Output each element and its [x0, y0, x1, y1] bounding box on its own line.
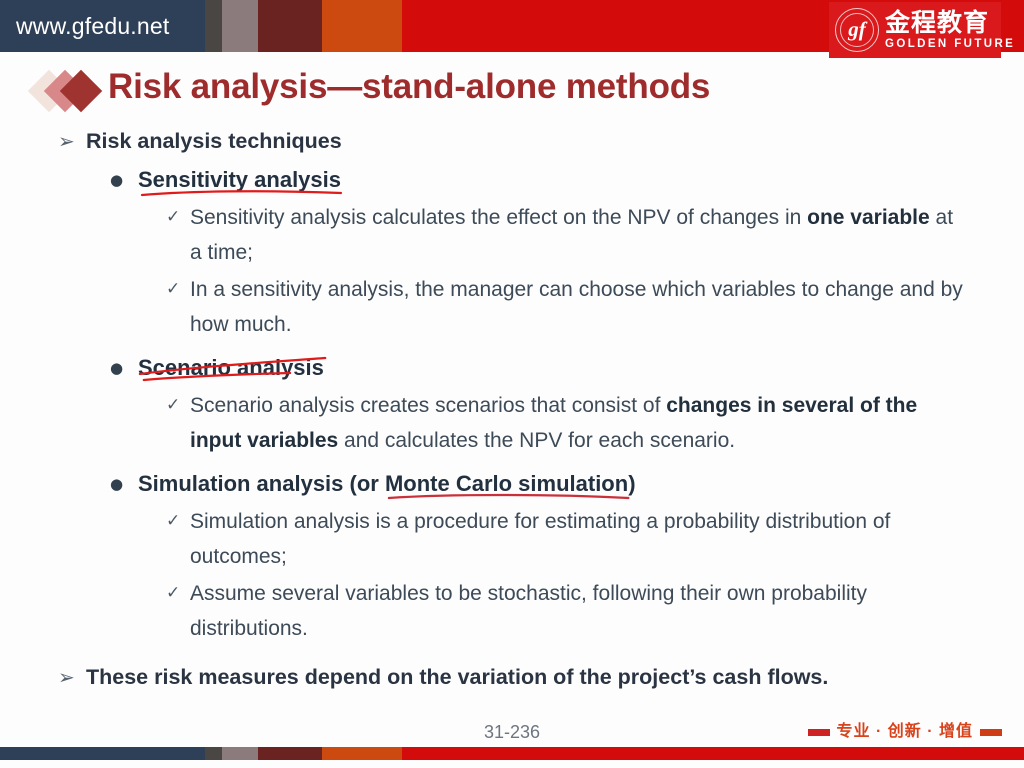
- spacer: [0, 344, 1024, 352]
- tagline-text: 专业 · 创新 · 增值: [837, 722, 973, 742]
- subbullet-text: Scenario analysis creates scenarios that…: [190, 388, 966, 458]
- bullet-text-wrapper: Sensitivity analysis: [138, 164, 341, 196]
- botbar-block-red: [402, 747, 1024, 760]
- botbar-block-maroon: [258, 747, 322, 760]
- site-url[interactable]: www.gfedu.net: [16, 12, 169, 40]
- logo-name-cn: 金程教育: [885, 9, 1015, 37]
- subbullet-simulation-p1: ✓ Simulation analysis is a procedure for…: [0, 504, 1024, 574]
- tagline-dash-right-icon: [980, 729, 1002, 736]
- bullet-sensitivity-analysis: ● Sensitivity analysis: [0, 164, 1024, 196]
- bullet-text: Scenario analysis: [138, 355, 324, 380]
- bullet-text-suffix: ): [628, 471, 635, 496]
- bullet-text-underlined: Monte Carlo simulation: [385, 471, 628, 496]
- bullet-risk-analysis-techniques: ➢ Risk analysis techniques: [0, 126, 1024, 156]
- bullet-text-wrapper: Scenario analysis: [138, 352, 324, 384]
- topbar-block-maroon: [258, 0, 322, 52]
- slide: www.gfedu.net gf 金程教育 GOLDEN FUTURE Risk…: [0, 0, 1024, 768]
- footer-tagline: 专业 · 创新 · 增值: [808, 722, 1002, 742]
- logo-name-en: GOLDEN FUTURE: [885, 37, 1015, 52]
- text-part-1: Sensitivity analysis calculates the effe…: [190, 206, 807, 229]
- subbullet-text: Sensitivity analysis calculates the effe…: [190, 200, 966, 270]
- spacer: [0, 460, 1024, 468]
- tagline-dash-left-icon: [808, 729, 830, 736]
- check-bullet-icon: ✓: [166, 504, 190, 539]
- topbar-block-orange: [322, 0, 402, 52]
- dot-bullet-icon: ●: [110, 164, 138, 196]
- subbullet-simulation-p2: ✓ Assume several variables to be stochas…: [0, 576, 1024, 646]
- spacer: [0, 648, 1024, 662]
- check-bullet-icon: ✓: [166, 200, 190, 235]
- page-title: Risk analysis—stand-alone methods: [108, 62, 710, 112]
- check-bullet-icon: ✓: [166, 576, 190, 611]
- topbar-block-mauve: [222, 0, 258, 52]
- bullet-text-prefix: Simulation analysis (or: [138, 471, 385, 496]
- dot-bullet-icon: ●: [110, 352, 138, 384]
- text-emphasis: one variable: [807, 206, 930, 229]
- botbar-block-dark-gray: [205, 747, 222, 760]
- bullet-text: Sensitivity analysis: [138, 167, 341, 192]
- botbar-block-navy: [0, 747, 205, 760]
- subbullet-scenario-p1: ✓ Scenario analysis creates scenarios th…: [0, 388, 1024, 458]
- brand-logo: gf 金程教育 GOLDEN FUTURE: [829, 2, 1001, 58]
- bullet-text: Risk analysis techniques: [86, 126, 342, 156]
- subbullet-sensitivity-p1: ✓ Sensitivity analysis calculates the ef…: [0, 200, 1024, 270]
- botbar-block-mauve: [222, 747, 258, 760]
- title-row: Risk analysis—stand-alone methods: [0, 62, 1024, 118]
- annotated-term: Sensitivity analysis: [138, 164, 341, 196]
- bullet-scenario-analysis: ● Scenario analysis: [0, 352, 1024, 384]
- subbullet-sensitivity-p2: ✓ In a sensitivity analysis, the manager…: [0, 272, 1024, 342]
- text-part-1: Scenario analysis creates scenarios that…: [190, 394, 666, 417]
- bullet-risk-measures-conclusion: ➢ These risk measures depend on the vari…: [0, 662, 1024, 692]
- topbar-block-dark-gray: [205, 0, 222, 52]
- seal-emblem-icon: gf: [835, 8, 879, 52]
- bullet-text-wrapper: Simulation analysis (or Monte Carlo simu…: [138, 468, 636, 500]
- subbullet-text: Simulation analysis is a procedure for e…: [190, 504, 966, 574]
- check-bullet-icon: ✓: [166, 388, 190, 423]
- arrow-bullet-icon: ➢: [58, 126, 86, 156]
- botbar-block-orange: [322, 747, 402, 760]
- annotated-term: Monte Carlo simulation: [385, 468, 628, 500]
- seal-monogram: gf: [836, 9, 878, 51]
- logo-text-group: 金程教育 GOLDEN FUTURE: [885, 9, 1015, 52]
- dot-bullet-icon: ●: [110, 468, 138, 500]
- annotated-term: Scenario analysis: [138, 352, 324, 384]
- subbullet-text: Assume several variables to be stochasti…: [190, 576, 966, 646]
- check-bullet-icon: ✓: [166, 272, 190, 307]
- bottom-color-bar: [0, 747, 1024, 760]
- slide-body: ➢ Risk analysis techniques ● Sensitivity…: [0, 126, 1024, 700]
- bullet-text: These risk measures depend on the variat…: [86, 662, 828, 692]
- subbullet-text: In a sensitivity analysis, the manager c…: [190, 272, 966, 342]
- diamond-decoration-icon: [34, 70, 106, 112]
- text-part-2: and calculates the NPV for each scenario…: [338, 429, 735, 452]
- arrow-bullet-icon: ➢: [58, 662, 86, 692]
- bullet-simulation-analysis: ● Simulation analysis (or Monte Carlo si…: [0, 468, 1024, 500]
